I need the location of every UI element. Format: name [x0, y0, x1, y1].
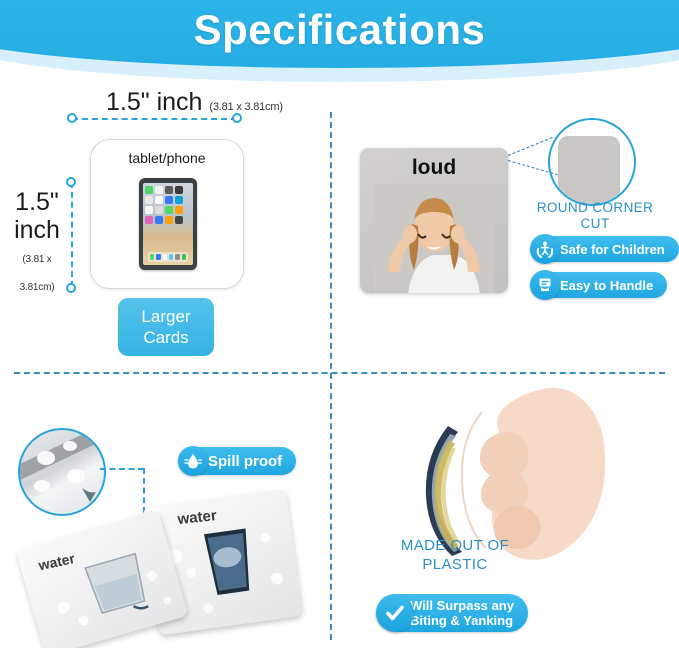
height-endpoint-top: [66, 177, 76, 187]
spill-connector-horizontal: [100, 468, 144, 470]
badge-spill-proof[interactable]: Spill proof: [178, 448, 296, 474]
divider-horizontal: [14, 372, 665, 374]
spill-magnifier: [18, 428, 106, 516]
larger-cards-button[interactable]: Larger Cards: [118, 298, 214, 356]
height-dimension-line: [71, 182, 73, 287]
water-drop-icon: [178, 446, 208, 476]
round-corner-line2: CUT: [581, 216, 610, 231]
loud-flashcard: loud: [360, 148, 508, 293]
height-value-line1: 1.5": [15, 188, 59, 216]
height-value-line2: inch: [14, 216, 60, 244]
page-title: Specifications: [0, 6, 679, 54]
larger-cards-line2: Cards: [143, 328, 188, 347]
check-icon: [376, 594, 414, 632]
tablet-app-grid: [145, 186, 191, 224]
child-covering-ears-photo: [374, 184, 494, 293]
round-corner-callout: ROUND CORNER CUT: [522, 200, 668, 232]
badge-easy-to-handle[interactable]: Easy to Handle: [530, 272, 667, 298]
loud-card-word: loud: [360, 156, 508, 180]
plastic-line1: MADE OUT OF: [401, 537, 509, 554]
round-corner-magnifier: [548, 118, 636, 206]
specifications-infographic: Specifications 1.5" inch (3.81 x 3.81cm)…: [0, 0, 679, 648]
round-corner-line1: ROUND CORNER: [537, 200, 654, 215]
hands-child-icon: [530, 234, 560, 264]
leader-line-top: [508, 137, 553, 156]
divider-vertical: [330, 112, 332, 640]
badge-safe-for-children[interactable]: Safe for Children: [530, 236, 679, 262]
tablet-phone-label: tablet/phone: [91, 150, 243, 166]
width-endpoint-right: [232, 113, 242, 123]
badge-biting-yanking[interactable]: Will Surpass any Biting & Yanking: [376, 594, 528, 632]
larger-cards-line1: Larger: [141, 307, 190, 326]
biting-line2: Biting & Yanking: [410, 613, 513, 628]
height-metric: (3.81 x 3.81cm): [6, 246, 68, 302]
tablet-phone-card: tablet/phone: [90, 139, 244, 289]
plastic-line2: PLASTIC: [422, 556, 487, 573]
height-endpoint-bottom: [66, 283, 76, 293]
magnified-water-beads: [20, 430, 104, 514]
header-banner: Specifications: [0, 0, 679, 82]
width-value: 1.5" inch: [106, 88, 202, 116]
height-dimension-label: 1.5" inch (3.81 x 3.81cm): [6, 188, 68, 302]
width-dimension-line: [72, 118, 237, 120]
tablet-device-illustration: [139, 178, 197, 270]
biting-line1: Will Surpass any: [410, 598, 514, 613]
width-metric: (3.81 x 3.81cm): [209, 101, 282, 113]
width-dimension-label: 1.5" inch (3.81 x 3.81cm): [106, 88, 283, 117]
magnified-card-corner: [558, 136, 620, 206]
hand-card-icon: [530, 270, 560, 300]
made-of-plastic-callout: MADE OUT OF PLASTIC: [360, 536, 550, 574]
tablet-dock: [148, 252, 188, 262]
tablet-screen: [143, 183, 193, 265]
width-endpoint-left: [67, 113, 77, 123]
